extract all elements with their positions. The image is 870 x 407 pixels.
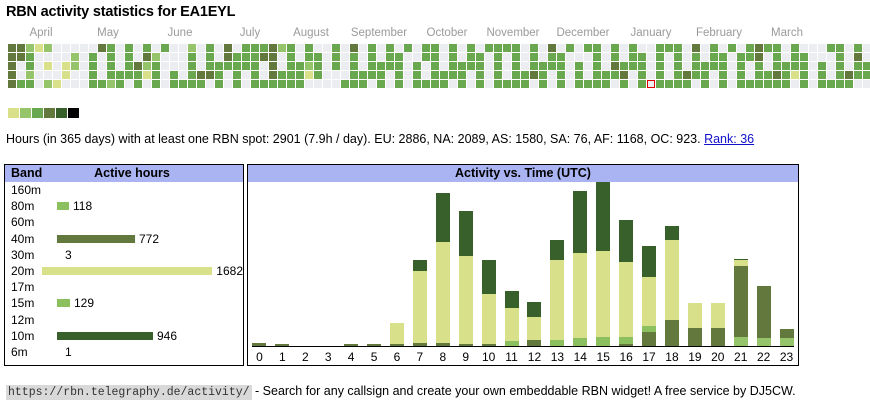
heatmap-day-cell[interactable] — [206, 71, 214, 79]
heatmap-day-cell[interactable] — [764, 71, 772, 79]
heatmap-day-cell[interactable] — [602, 80, 610, 88]
heatmap-day-cell[interactable] — [440, 80, 448, 88]
heatmap-day-cell[interactable] — [422, 53, 430, 61]
heatmap-day-cell[interactable] — [395, 80, 403, 88]
heatmap-day-cell[interactable] — [287, 80, 295, 88]
heatmap-day-cell[interactable] — [350, 44, 358, 52]
activity-bar-hour-23[interactable] — [780, 329, 794, 346]
heatmap-day-cell[interactable] — [539, 44, 547, 52]
heatmap-day-cell[interactable] — [251, 62, 259, 70]
heatmap-day-cell[interactable] — [215, 53, 223, 61]
heatmap-day-cell[interactable] — [197, 53, 205, 61]
heatmap-day-cell[interactable] — [98, 80, 106, 88]
heatmap-day-cell[interactable] — [422, 62, 430, 70]
heatmap-day-cell[interactable] — [548, 71, 556, 79]
heatmap-day-cell[interactable] — [431, 44, 439, 52]
heatmap-day-cell[interactable] — [332, 44, 340, 52]
heatmap-day-cell[interactable] — [827, 44, 835, 52]
heatmap-day-cell[interactable] — [512, 53, 520, 61]
heatmap-day-cell[interactable] — [719, 80, 727, 88]
heatmap-day-cell[interactable] — [485, 80, 493, 88]
heatmap-day-cell[interactable] — [368, 44, 376, 52]
heatmap-day-cell[interactable] — [620, 44, 628, 52]
heatmap-day-cell[interactable] — [701, 44, 709, 52]
heatmap-day-cell[interactable] — [638, 71, 646, 79]
heatmap-day-cell[interactable] — [692, 80, 700, 88]
heatmap-day-cell[interactable] — [8, 53, 16, 61]
heatmap-day-cell[interactable] — [638, 44, 646, 52]
heatmap-day-cell[interactable] — [188, 80, 196, 88]
heatmap-day-cell[interactable] — [773, 80, 781, 88]
heatmap-day-cell[interactable] — [161, 71, 169, 79]
heatmap-day-cell[interactable] — [737, 71, 745, 79]
heatmap-day-cell[interactable] — [107, 53, 115, 61]
heatmap-day-cell[interactable] — [800, 71, 808, 79]
heatmap-day-cell[interactable] — [665, 80, 673, 88]
heatmap-day-cell[interactable] — [629, 44, 637, 52]
heatmap-day-cell[interactable] — [215, 80, 223, 88]
heatmap-day-cell[interactable] — [557, 80, 565, 88]
heatmap-day-cell[interactable] — [854, 71, 862, 79]
heatmap-day-cell[interactable] — [539, 62, 547, 70]
heatmap-day-cell[interactable] — [530, 80, 538, 88]
heatmap-day-cell[interactable] — [665, 53, 673, 61]
heatmap-day-cell[interactable] — [350, 53, 358, 61]
heatmap-day-cell[interactable] — [170, 44, 178, 52]
heatmap-day-cell[interactable] — [440, 53, 448, 61]
heatmap-day-cell[interactable] — [350, 62, 358, 70]
heatmap-day-cell[interactable] — [539, 71, 547, 79]
heatmap-day-cell[interactable] — [836, 44, 844, 52]
heatmap-day-cell[interactable] — [764, 80, 772, 88]
heatmap-day-cell[interactable] — [44, 53, 52, 61]
heatmap-day-cell[interactable] — [512, 80, 520, 88]
heatmap-day-cell[interactable] — [332, 53, 340, 61]
heatmap-day-cell[interactable] — [845, 44, 853, 52]
heatmap-day-cell[interactable] — [764, 62, 772, 70]
heatmap-day-cell[interactable] — [791, 71, 799, 79]
heatmap-day-cell[interactable] — [575, 80, 583, 88]
heatmap-day-cell[interactable] — [737, 80, 745, 88]
heatmap-day-cell[interactable] — [539, 80, 547, 88]
activity-bar-hour-20[interactable] — [711, 303, 725, 346]
heatmap-day-cell[interactable] — [197, 62, 205, 70]
heatmap-day-cell[interactable] — [395, 53, 403, 61]
heatmap-day-cell[interactable] — [746, 62, 754, 70]
heatmap-day-cell[interactable] — [377, 80, 385, 88]
activity-bar-hour-14[interactable] — [573, 191, 587, 346]
heatmap-day-cell[interactable] — [116, 62, 124, 70]
heatmap-day-cell[interactable] — [116, 71, 124, 79]
heatmap-day-cell[interactable] — [449, 53, 457, 61]
heatmap-day-cell[interactable] — [35, 62, 43, 70]
heatmap-day-cell[interactable] — [809, 80, 817, 88]
heatmap-day-cell[interactable] — [377, 62, 385, 70]
heatmap-day-cell[interactable] — [269, 71, 277, 79]
heatmap-day-cell[interactable] — [440, 44, 448, 52]
heatmap-day-cell[interactable] — [107, 62, 115, 70]
heatmap-day-cell[interactable] — [584, 44, 592, 52]
heatmap-day-cell[interactable] — [332, 80, 340, 88]
heatmap-day-cell[interactable] — [62, 80, 70, 88]
heatmap-day-cell[interactable] — [692, 53, 700, 61]
heatmap-day-cell[interactable] — [296, 44, 304, 52]
heatmap-day-cell[interactable] — [827, 80, 835, 88]
heatmap-day-cell[interactable] — [548, 44, 556, 52]
heatmap-day-cell[interactable] — [26, 71, 34, 79]
heatmap-day-cell[interactable] — [467, 44, 475, 52]
heatmap-day-cell[interactable] — [80, 53, 88, 61]
heatmap-day-cell[interactable] — [863, 62, 870, 70]
heatmap-day-cell[interactable] — [467, 80, 475, 88]
heatmap-day-cell[interactable] — [179, 80, 187, 88]
heatmap-day-cell[interactable] — [458, 44, 466, 52]
heatmap-day-cell[interactable] — [224, 53, 232, 61]
heatmap-day-cell[interactable] — [818, 53, 826, 61]
heatmap-day-cell[interactable] — [611, 53, 619, 61]
heatmap-day-cell[interactable] — [71, 53, 79, 61]
heatmap-day-cell[interactable] — [692, 71, 700, 79]
heatmap-day-cell[interactable] — [269, 44, 277, 52]
heatmap-day-cell[interactable] — [386, 44, 394, 52]
heatmap-day-cell[interactable] — [467, 62, 475, 70]
heatmap-day-cell[interactable] — [233, 53, 241, 61]
heatmap-day-cell[interactable] — [98, 44, 106, 52]
heatmap-day-cell[interactable] — [611, 44, 619, 52]
heatmap-day-cell[interactable] — [260, 80, 268, 88]
heatmap-day-cell[interactable] — [260, 44, 268, 52]
heatmap-day-cell[interactable] — [755, 71, 763, 79]
heatmap-day-cell[interactable] — [89, 53, 97, 61]
heatmap-day-cell[interactable] — [674, 80, 682, 88]
heatmap-day-cell[interactable] — [431, 80, 439, 88]
heatmap-day-cell[interactable] — [341, 80, 349, 88]
heatmap-day-cell[interactable] — [800, 44, 808, 52]
heatmap-day-cell[interactable] — [80, 62, 88, 70]
heatmap-day-cell[interactable] — [242, 44, 250, 52]
heatmap-day-cell[interactable] — [863, 80, 870, 88]
heatmap-day-cell[interactable] — [530, 53, 538, 61]
heatmap-day-cell[interactable] — [161, 62, 169, 70]
heatmap-day-cell[interactable] — [719, 71, 727, 79]
heatmap-day-cell[interactable] — [746, 44, 754, 52]
heatmap-day-cell[interactable] — [80, 80, 88, 88]
heatmap-day-cell[interactable] — [422, 44, 430, 52]
activity-bar-hour-19[interactable] — [688, 303, 702, 346]
heatmap-day-cell[interactable] — [485, 62, 493, 70]
heatmap-day-cell[interactable] — [683, 71, 691, 79]
heatmap-day-cell[interactable] — [215, 44, 223, 52]
heatmap-day-cell[interactable] — [224, 80, 232, 88]
heatmap-day-cell[interactable] — [341, 44, 349, 52]
heatmap-day-cell[interactable] — [818, 80, 826, 88]
heatmap-day-cell[interactable] — [359, 80, 367, 88]
heatmap-day-cell[interactable] — [791, 62, 799, 70]
heatmap-day-cell[interactable] — [404, 71, 412, 79]
heatmap-day-cell[interactable] — [341, 71, 349, 79]
heatmap-day-cell[interactable] — [719, 44, 727, 52]
heatmap-day-cell[interactable] — [251, 44, 259, 52]
heatmap-day-cell[interactable] — [593, 71, 601, 79]
heatmap-day-cell[interactable] — [278, 53, 286, 61]
rank-link[interactable]: Rank: 36 — [704, 132, 754, 146]
heatmap-day-cell[interactable] — [143, 62, 151, 70]
footer-url[interactable]: https://rbn.telegraphy.de/activity/ — [6, 385, 252, 400]
heatmap-day-cell[interactable] — [314, 71, 322, 79]
heatmap-day-cell[interactable] — [710, 71, 718, 79]
heatmap-day-cell[interactable] — [386, 53, 394, 61]
heatmap-day-cell[interactable] — [737, 44, 745, 52]
heatmap-day-cell[interactable] — [755, 62, 763, 70]
heatmap-day-cell[interactable] — [44, 62, 52, 70]
heatmap-day-cell[interactable] — [449, 62, 457, 70]
heatmap-day-cell[interactable] — [665, 71, 673, 79]
heatmap-day-cell[interactable] — [152, 80, 160, 88]
activity-bar-hour-17[interactable] — [642, 246, 656, 346]
heatmap-day-cell[interactable] — [386, 80, 394, 88]
activity-bar-hour-10[interactable] — [482, 260, 496, 346]
activity-bar-hour-6[interactable] — [390, 323, 404, 346]
heatmap-day-cell[interactable] — [44, 80, 52, 88]
heatmap-day-cell[interactable] — [161, 53, 169, 61]
heatmap-day-cell[interactable] — [467, 71, 475, 79]
heatmap-day-cell[interactable] — [431, 71, 439, 79]
heatmap-day-cell[interactable] — [422, 71, 430, 79]
heatmap-day-cell[interactable] — [728, 53, 736, 61]
heatmap-day-cell[interactable] — [17, 71, 25, 79]
heatmap-day-cell[interactable] — [656, 62, 664, 70]
heatmap-day-cell[interactable] — [620, 71, 628, 79]
heatmap-day-cell[interactable] — [215, 71, 223, 79]
heatmap-day-cell[interactable] — [557, 44, 565, 52]
heatmap-day-cell[interactable] — [26, 62, 34, 70]
heatmap-day-cell[interactable] — [719, 62, 727, 70]
heatmap-day-cell[interactable] — [251, 53, 259, 61]
heatmap-day-cell[interactable] — [161, 80, 169, 88]
heatmap-day-cell[interactable] — [449, 71, 457, 79]
heatmap-day-cell[interactable] — [593, 53, 601, 61]
heatmap-day-cell[interactable] — [269, 53, 277, 61]
heatmap-day-cell[interactable] — [26, 53, 34, 61]
heatmap-day-cell[interactable] — [674, 44, 682, 52]
heatmap-day-cell[interactable] — [692, 62, 700, 70]
heatmap-day-cell[interactable] — [197, 80, 205, 88]
heatmap-day-cell[interactable] — [152, 62, 160, 70]
heatmap-day-cell[interactable] — [818, 71, 826, 79]
heatmap-day-cell[interactable] — [755, 44, 763, 52]
heatmap-day-cell[interactable] — [494, 80, 502, 88]
heatmap-day-cell[interactable] — [638, 62, 646, 70]
heatmap-day-cell[interactable] — [323, 53, 331, 61]
heatmap-day-cell[interactable] — [845, 53, 853, 61]
heatmap-day-cell[interactable] — [755, 53, 763, 61]
heatmap-day-cell[interactable] — [314, 80, 322, 88]
heatmap-day-cell[interactable] — [413, 80, 421, 88]
heatmap-day-cell[interactable] — [656, 80, 664, 88]
heatmap-day-cell[interactable] — [323, 62, 331, 70]
heatmap-day-cell[interactable] — [98, 71, 106, 79]
heatmap-day-cell[interactable] — [107, 80, 115, 88]
heatmap-day-cell[interactable] — [548, 53, 556, 61]
heatmap-day-cell[interactable] — [791, 80, 799, 88]
heatmap-day-cell[interactable] — [863, 53, 870, 61]
heatmap-day-cell[interactable] — [719, 53, 727, 61]
heatmap-day-cell[interactable] — [143, 71, 151, 79]
heatmap-day-cell[interactable] — [728, 71, 736, 79]
heatmap-day-cell[interactable] — [854, 53, 862, 61]
activity-heatmap[interactable] — [8, 44, 870, 89]
heatmap-day-cell[interactable] — [593, 44, 601, 52]
heatmap-day-cell[interactable] — [485, 53, 493, 61]
activity-bar-hour-12[interactable] — [527, 302, 541, 346]
heatmap-day-cell[interactable] — [449, 80, 457, 88]
heatmap-day-cell[interactable] — [458, 53, 466, 61]
heatmap-day-cell[interactable] — [53, 71, 61, 79]
activity-bars[interactable] — [248, 182, 798, 346]
heatmap-day-cell[interactable] — [575, 53, 583, 61]
heatmap-day-cell[interactable] — [602, 62, 610, 70]
heatmap-day-cell[interactable] — [656, 71, 664, 79]
heatmap-day-cell[interactable] — [233, 44, 241, 52]
heatmap-day-cell[interactable] — [854, 80, 862, 88]
heatmap-day-cell[interactable] — [314, 62, 322, 70]
heatmap-day-cell[interactable] — [494, 71, 502, 79]
heatmap-day-cell[interactable] — [710, 44, 718, 52]
heatmap-day-cell[interactable] — [620, 62, 628, 70]
activity-bar-hour-21[interactable] — [734, 259, 748, 346]
heatmap-day-cell[interactable] — [440, 71, 448, 79]
heatmap-day-cell[interactable] — [17, 53, 25, 61]
heatmap-day-cell[interactable] — [134, 62, 142, 70]
heatmap-day-cell[interactable] — [35, 44, 43, 52]
heatmap-day-cell[interactable] — [485, 44, 493, 52]
heatmap-day-cell[interactable] — [170, 53, 178, 61]
heatmap-day-cell[interactable] — [566, 53, 574, 61]
heatmap-day-cell[interactable] — [179, 53, 187, 61]
heatmap-day-cell[interactable] — [764, 53, 772, 61]
heatmap-day-cell[interactable] — [260, 71, 268, 79]
heatmap-day-cell[interactable] — [782, 71, 790, 79]
heatmap-day-cell[interactable] — [359, 53, 367, 61]
heatmap-day-cell[interactable] — [476, 80, 484, 88]
heatmap-day-cell[interactable] — [530, 71, 538, 79]
heatmap-day-cell[interactable] — [323, 71, 331, 79]
heatmap-day-cell[interactable] — [413, 44, 421, 52]
heatmap-day-cell[interactable] — [791, 53, 799, 61]
heatmap-day-cell[interactable] — [35, 80, 43, 88]
heatmap-day-cell[interactable] — [53, 80, 61, 88]
heatmap-day-cell[interactable] — [143, 80, 151, 88]
heatmap-day-cell[interactable] — [170, 62, 178, 70]
heatmap-day-cell[interactable] — [188, 62, 196, 70]
heatmap-day-cell[interactable] — [503, 80, 511, 88]
heatmap-day-cell[interactable] — [233, 80, 241, 88]
heatmap-day-cell[interactable] — [35, 53, 43, 61]
heatmap-day-cell[interactable] — [134, 80, 142, 88]
heatmap-day-cell[interactable] — [368, 80, 376, 88]
heatmap-day-cell[interactable] — [116, 53, 124, 61]
heatmap-day-cell[interactable] — [395, 44, 403, 52]
heatmap-day-cell[interactable] — [539, 53, 547, 61]
heatmap-day-cell[interactable] — [341, 53, 349, 61]
heatmap-day-cell[interactable] — [53, 62, 61, 70]
heatmap-day-cell[interactable] — [278, 71, 286, 79]
heatmap-day-cell[interactable] — [71, 71, 79, 79]
heatmap-day-cell[interactable] — [728, 44, 736, 52]
heatmap-day-cell[interactable] — [125, 80, 133, 88]
heatmap-day-cell[interactable] — [242, 62, 250, 70]
heatmap-day-cell[interactable] — [764, 44, 772, 52]
heatmap-day-cell[interactable] — [773, 44, 781, 52]
heatmap-day-cell[interactable] — [179, 62, 187, 70]
heatmap-day-cell[interactable] — [827, 71, 835, 79]
heatmap-day-cell[interactable] — [701, 80, 709, 88]
heatmap-day-cell[interactable] — [602, 44, 610, 52]
heatmap-day-cell[interactable] — [728, 62, 736, 70]
heatmap-day-cell[interactable] — [386, 71, 394, 79]
heatmap-day-cell[interactable] — [629, 62, 637, 70]
heatmap-day-cell[interactable] — [26, 80, 34, 88]
heatmap-day-cell[interactable] — [512, 62, 520, 70]
heatmap-day-cell[interactable] — [476, 62, 484, 70]
heatmap-day-cell[interactable] — [674, 53, 682, 61]
heatmap-day-cell[interactable] — [773, 71, 781, 79]
heatmap-day-cell[interactable] — [179, 71, 187, 79]
heatmap-day-cell[interactable] — [134, 71, 142, 79]
heatmap-day-cell[interactable] — [233, 71, 241, 79]
heatmap-day-cell[interactable] — [521, 80, 529, 88]
heatmap-day-cell[interactable] — [377, 71, 385, 79]
heatmap-day-cell[interactable] — [638, 80, 646, 88]
heatmap-day-cell[interactable] — [404, 62, 412, 70]
heatmap-day-cell[interactable] — [647, 53, 655, 61]
heatmap-day-cell[interactable] — [395, 71, 403, 79]
heatmap-day-cell[interactable] — [62, 62, 70, 70]
heatmap-day-cell[interactable] — [476, 71, 484, 79]
heatmap-day-cell[interactable] — [395, 62, 403, 70]
heatmap-day-cell[interactable] — [8, 80, 16, 88]
heatmap-day-cell[interactable] — [188, 71, 196, 79]
heatmap-day-cell[interactable] — [350, 80, 358, 88]
heatmap-day-cell[interactable] — [701, 62, 709, 70]
heatmap-day-cell[interactable] — [269, 62, 277, 70]
heatmap-day-cell[interactable] — [71, 80, 79, 88]
heatmap-day-cell[interactable] — [521, 62, 529, 70]
heatmap-day-cell[interactable] — [575, 62, 583, 70]
heatmap-day-cell[interactable] — [377, 44, 385, 52]
heatmap-day-cell[interactable] — [80, 71, 88, 79]
heatmap-day-cell[interactable] — [386, 62, 394, 70]
heatmap-day-cell[interactable] — [494, 62, 502, 70]
heatmap-day-cell[interactable] — [80, 44, 88, 52]
heatmap-day-cell[interactable] — [431, 53, 439, 61]
heatmap-day-cell[interactable] — [800, 62, 808, 70]
heatmap-day-cell[interactable] — [683, 53, 691, 61]
heatmap-day-cell[interactable] — [845, 80, 853, 88]
heatmap-day-cell[interactable] — [458, 62, 466, 70]
heatmap-day-cell[interactable] — [305, 62, 313, 70]
heatmap-day-cell[interactable] — [278, 44, 286, 52]
heatmap-day-cell[interactable] — [305, 71, 313, 79]
heatmap-day-cell[interactable] — [647, 71, 655, 79]
heatmap-day-cell[interactable] — [620, 53, 628, 61]
heatmap-day-cell[interactable] — [260, 53, 268, 61]
heatmap-day-cell[interactable] — [656, 44, 664, 52]
heatmap-day-cell[interactable] — [710, 53, 718, 61]
heatmap-day-cell[interactable] — [431, 62, 439, 70]
heatmap-day-cell[interactable] — [287, 62, 295, 70]
heatmap-day-cell[interactable] — [494, 53, 502, 61]
